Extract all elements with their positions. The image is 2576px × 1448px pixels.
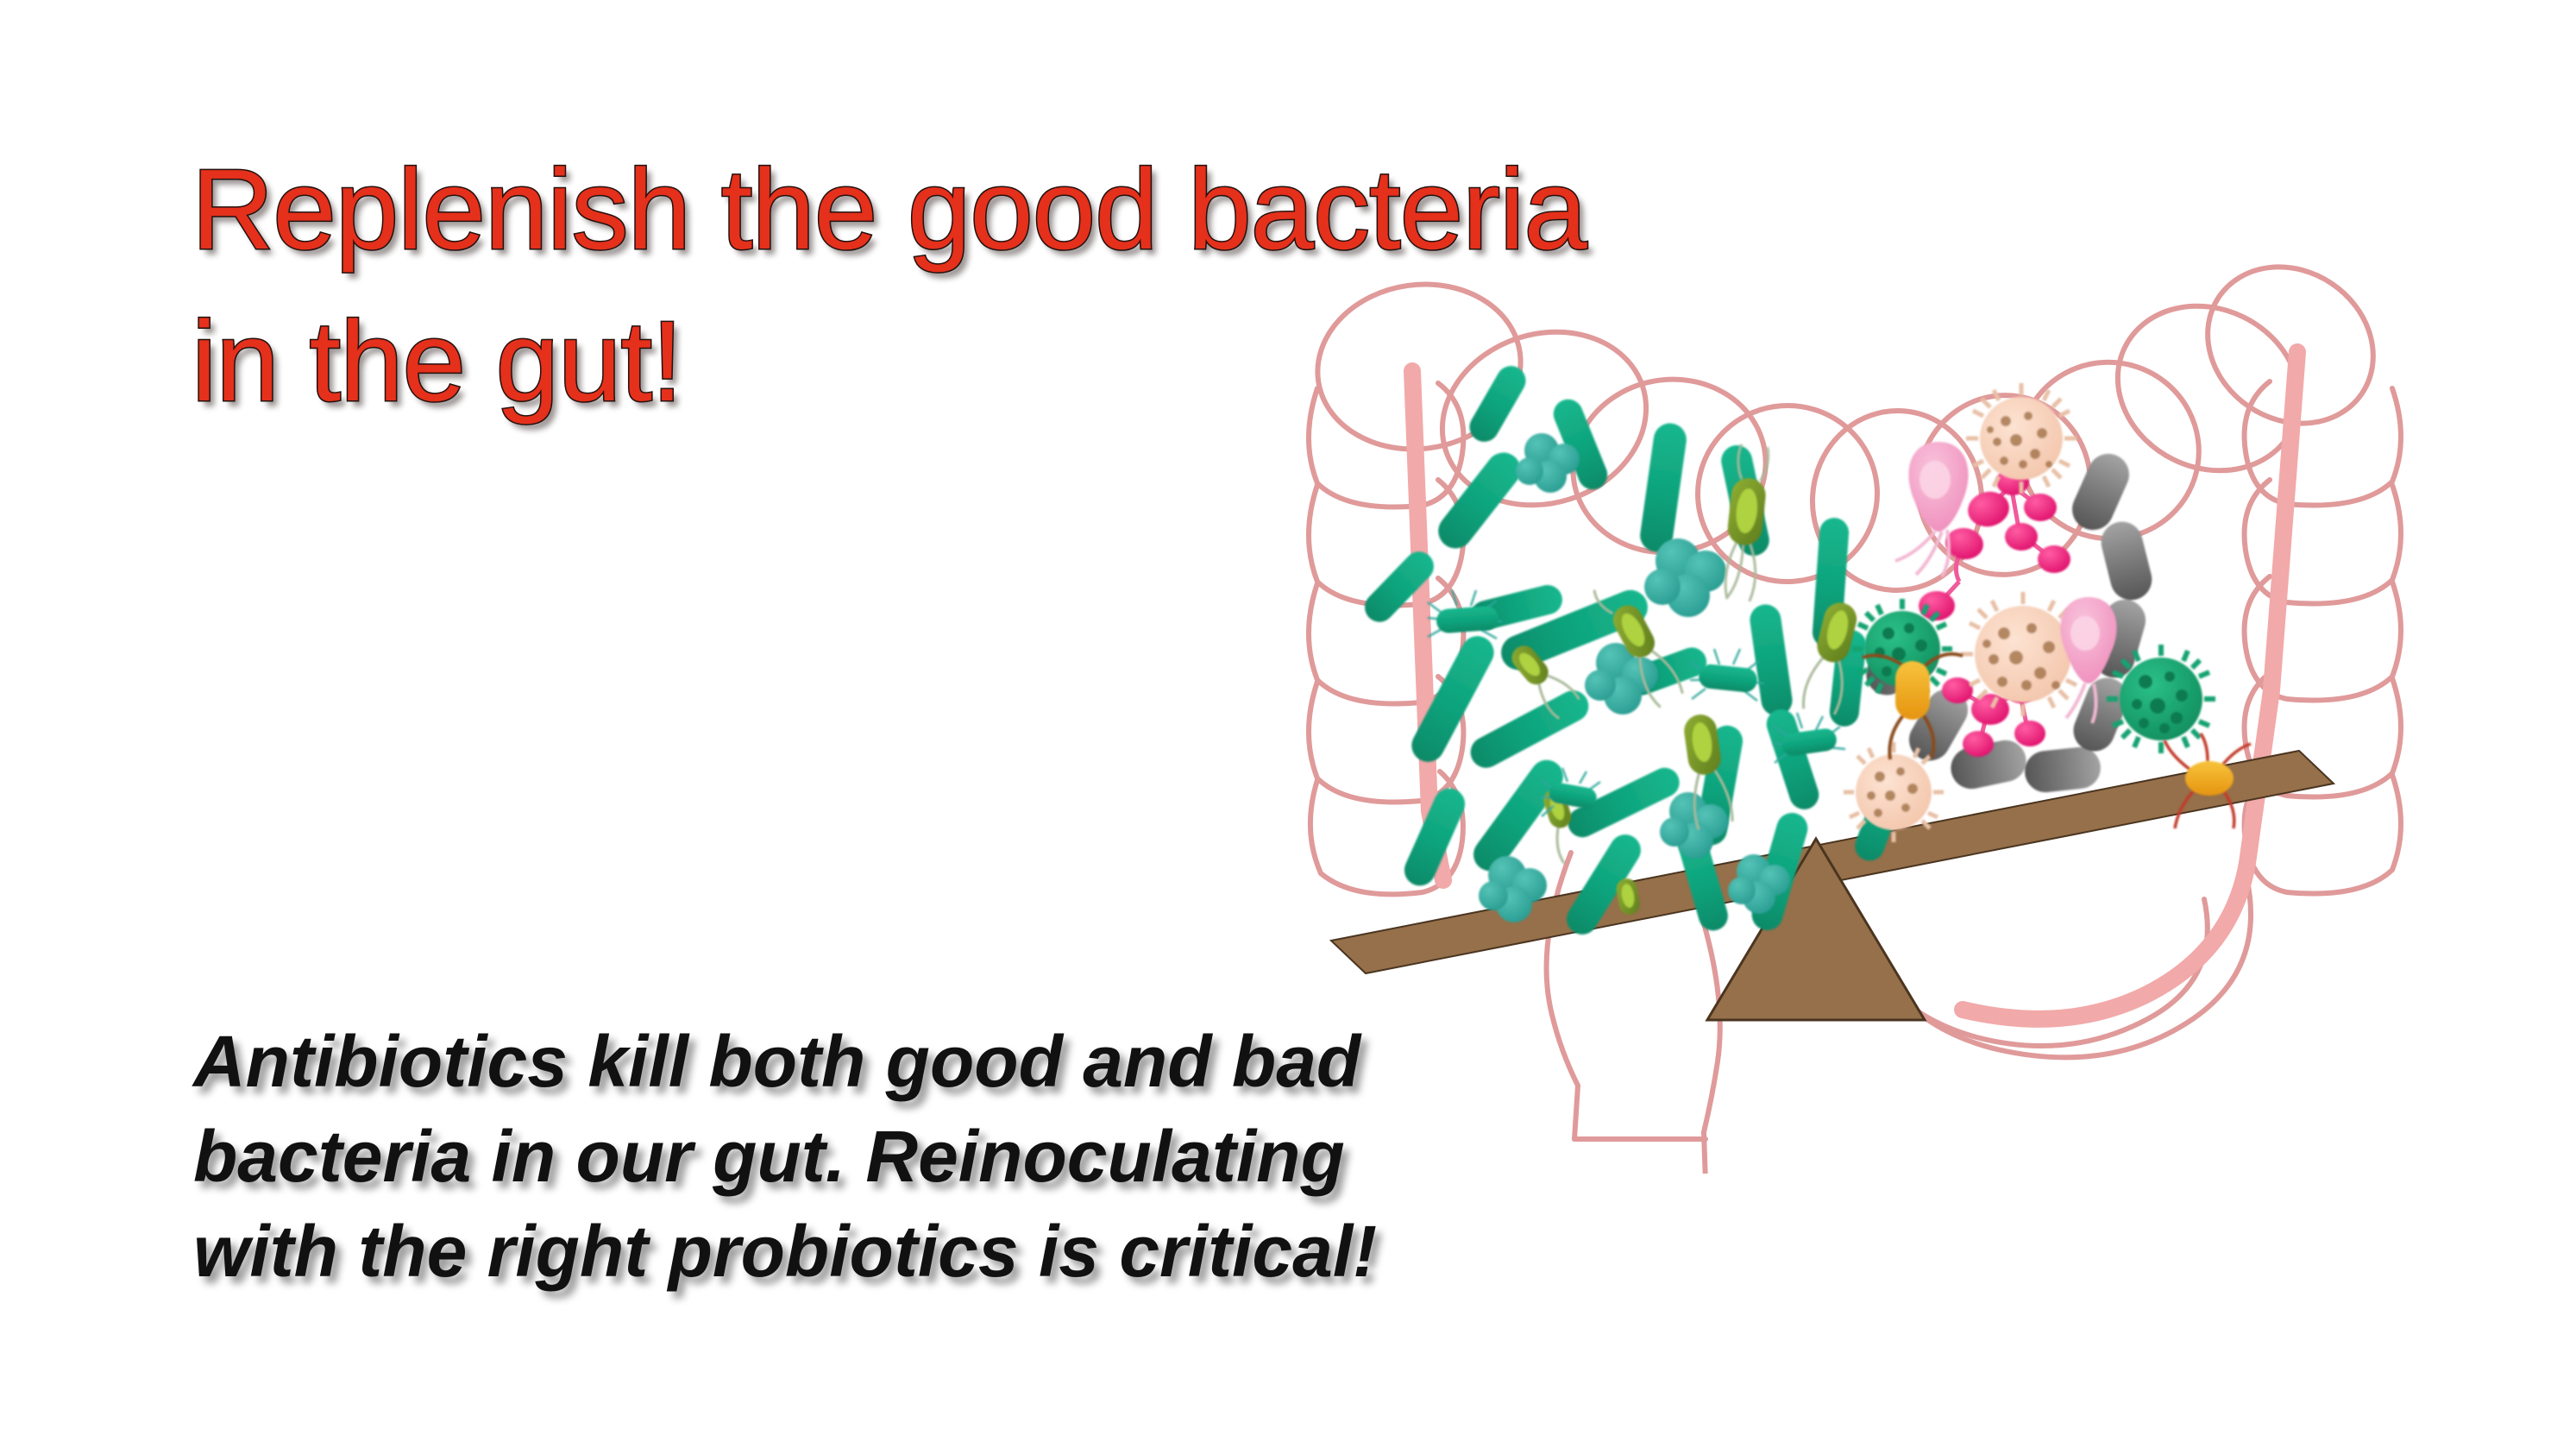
caption-line-2: bacteria in our gut. Reinoculating <box>193 1109 1487 1204</box>
bad-microbes-group <box>1844 383 2251 842</box>
caption-text: Antibiotics kill both good and bad bacte… <box>193 1014 1487 1299</box>
slide-canvas: Replenish the good bacteria in the gut! <box>0 0 2576 1448</box>
caption-line-3: with the right probiotics is critical! <box>193 1204 1487 1299</box>
caption-line-1: Antibiotics kill both good and bad <box>193 1014 1487 1109</box>
